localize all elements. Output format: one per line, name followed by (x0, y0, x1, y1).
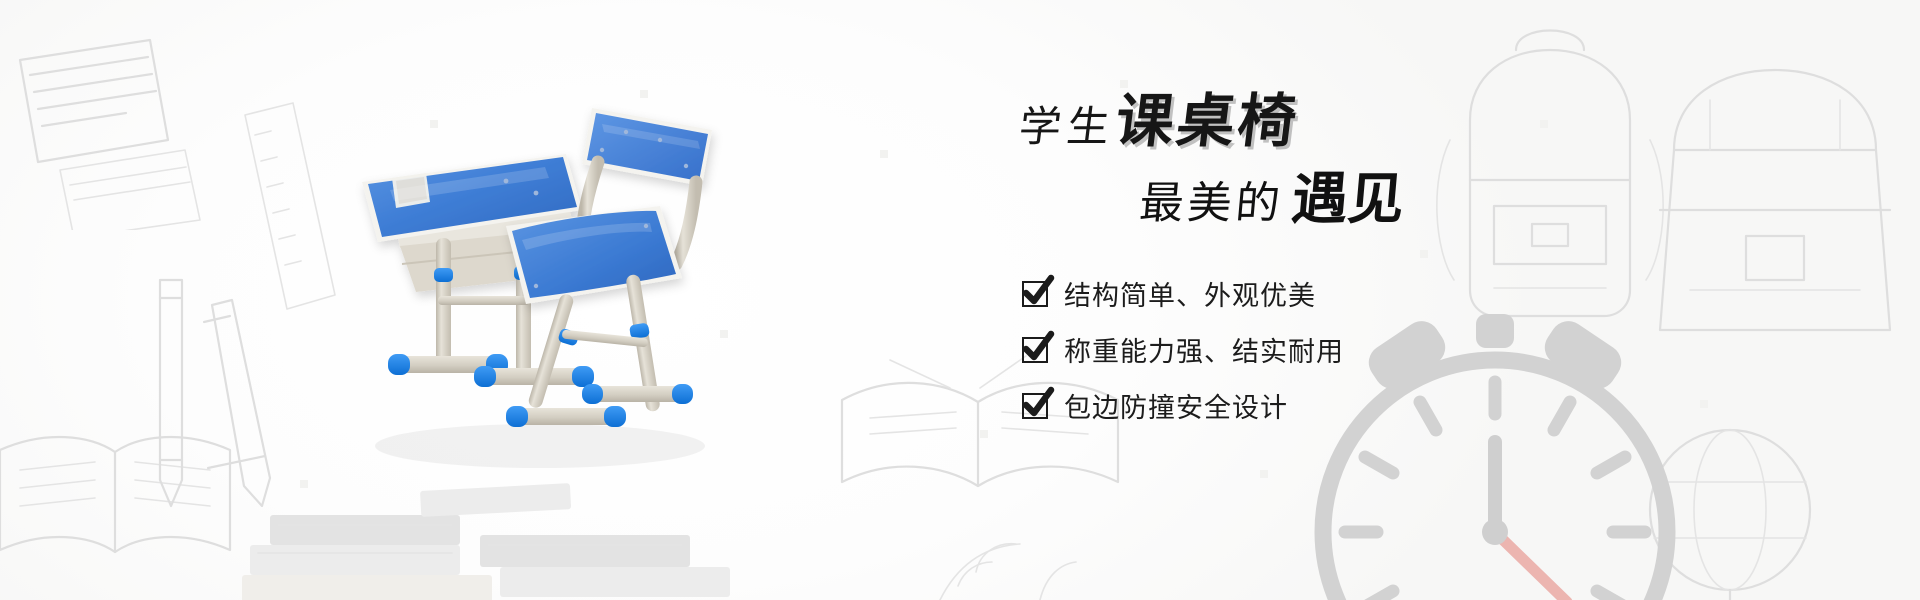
feature-label: 称重能力强、结实耐用 (1064, 330, 1344, 369)
feature-list: 结构简单、外观优美 称重能力强、结实耐用 包边防撞安 (1022, 274, 1344, 442)
checkbox-checked-icon (1022, 281, 1048, 307)
feature-item: 结构简单、外观优美 (1022, 274, 1344, 313)
headline-line-1: 学生课桌椅 (1016, 92, 1302, 150)
feature-label: 包边防撞安全设计 (1064, 386, 1288, 425)
headline-line-2-prefix: 最美的 (1137, 178, 1285, 229)
checkbox-checked-icon (1022, 393, 1048, 419)
student-desk-and-chair-photo (330, 78, 810, 498)
promo-banner: 学生课桌椅 最美的遇见 结构简单、外观优美 (0, 0, 1920, 600)
headline-line-1-emphasis: 课桌椅 (1112, 87, 1303, 155)
headline-line-1-prefix: 学生 (1016, 102, 1118, 151)
headline-line-2-emphasis: 遇见 (1289, 167, 1407, 232)
headline: 学生课桌椅 最美的遇见 (1000, 92, 1640, 262)
feature-label: 结构简单、外观优美 (1064, 274, 1316, 313)
banner-text-block: 学生课桌椅 最美的遇见 结构简单、外观优美 (1000, 92, 1640, 262)
feature-item: 包边防撞安全设计 (1022, 386, 1344, 425)
feature-item: 称重能力强、结实耐用 (1022, 330, 1344, 369)
alarm-clock-doodle (1280, 302, 1710, 600)
checkbox-checked-icon (1022, 337, 1048, 363)
headline-line-2: 最美的遇见 (1138, 172, 1407, 228)
